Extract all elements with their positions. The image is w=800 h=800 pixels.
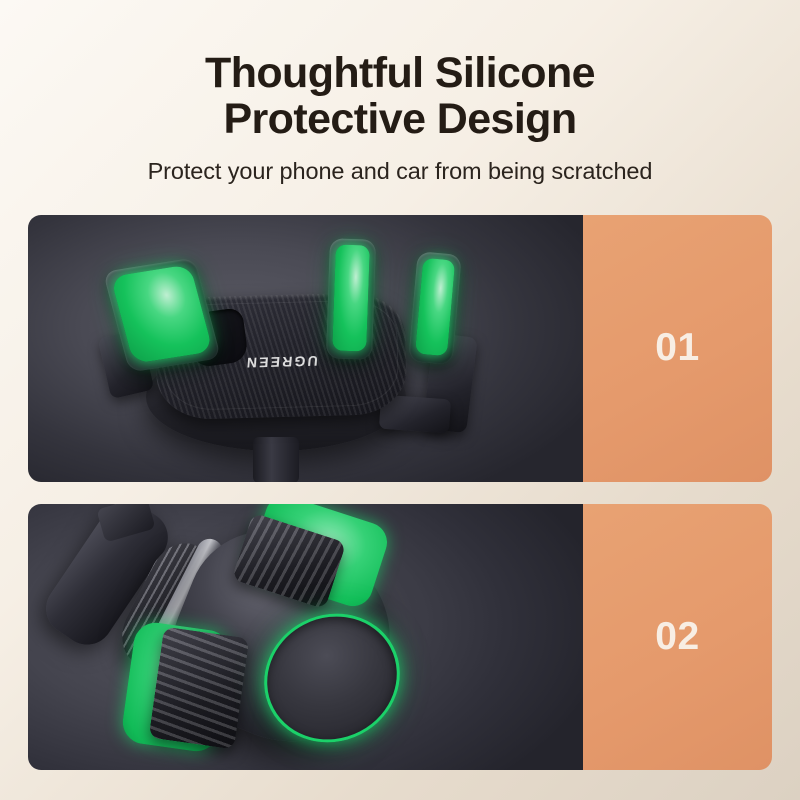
silicone-pad (332, 244, 370, 351)
product-photo-01: UGREEN (28, 215, 583, 482)
feature-row-01: UGREEN 01 (28, 215, 772, 482)
headline-line-1: Thoughtful Silicone (0, 50, 800, 96)
page-title: Thoughtful Silicone Protective Design (0, 50, 800, 143)
badge-number: 01 (655, 326, 699, 370)
mount-stem (253, 437, 299, 482)
badge-panel-02: 02 (583, 504, 772, 771)
badge-panel-01: 01 (583, 215, 772, 482)
brand-logo: UGREEN (244, 353, 318, 371)
headline-line-2: Protective Design (0, 96, 800, 142)
clip-shell-left (149, 626, 250, 749)
header: Thoughtful Silicone Protective Design Pr… (0, 0, 800, 185)
feature-row-02: 02 (28, 504, 772, 771)
product-illustration-cradle: UGREEN (28, 215, 583, 482)
product-photo-02 (28, 504, 583, 771)
feature-rows: UGREEN 01 (28, 215, 772, 770)
product-illustration-vent-clip (28, 504, 583, 771)
subtitle: Protect your phone and car from being sc… (0, 158, 800, 185)
badge-number: 02 (655, 615, 699, 659)
silicone-clamp-arm-center (326, 238, 376, 360)
